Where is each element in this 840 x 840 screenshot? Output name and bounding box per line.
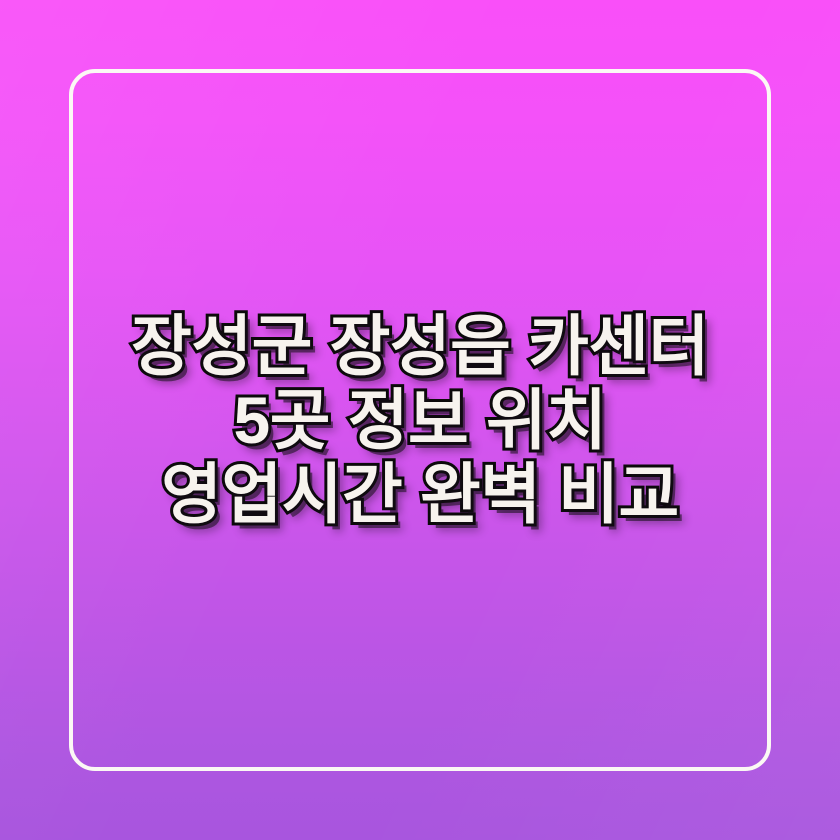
title-line-2: 5곳 정보 위치	[78, 383, 762, 457]
title-line-1: 장성군 장성읍 카센터	[78, 309, 762, 383]
title-block: 장성군 장성읍 카센터 5곳 정보 위치 영업시간 완벽 비교	[0, 0, 840, 840]
thumbnail-canvas: 장성군 장성읍 카센터 5곳 정보 위치 영업시간 완벽 비교	[0, 0, 840, 840]
title-line-3: 영업시간 완벽 비교	[78, 457, 762, 531]
